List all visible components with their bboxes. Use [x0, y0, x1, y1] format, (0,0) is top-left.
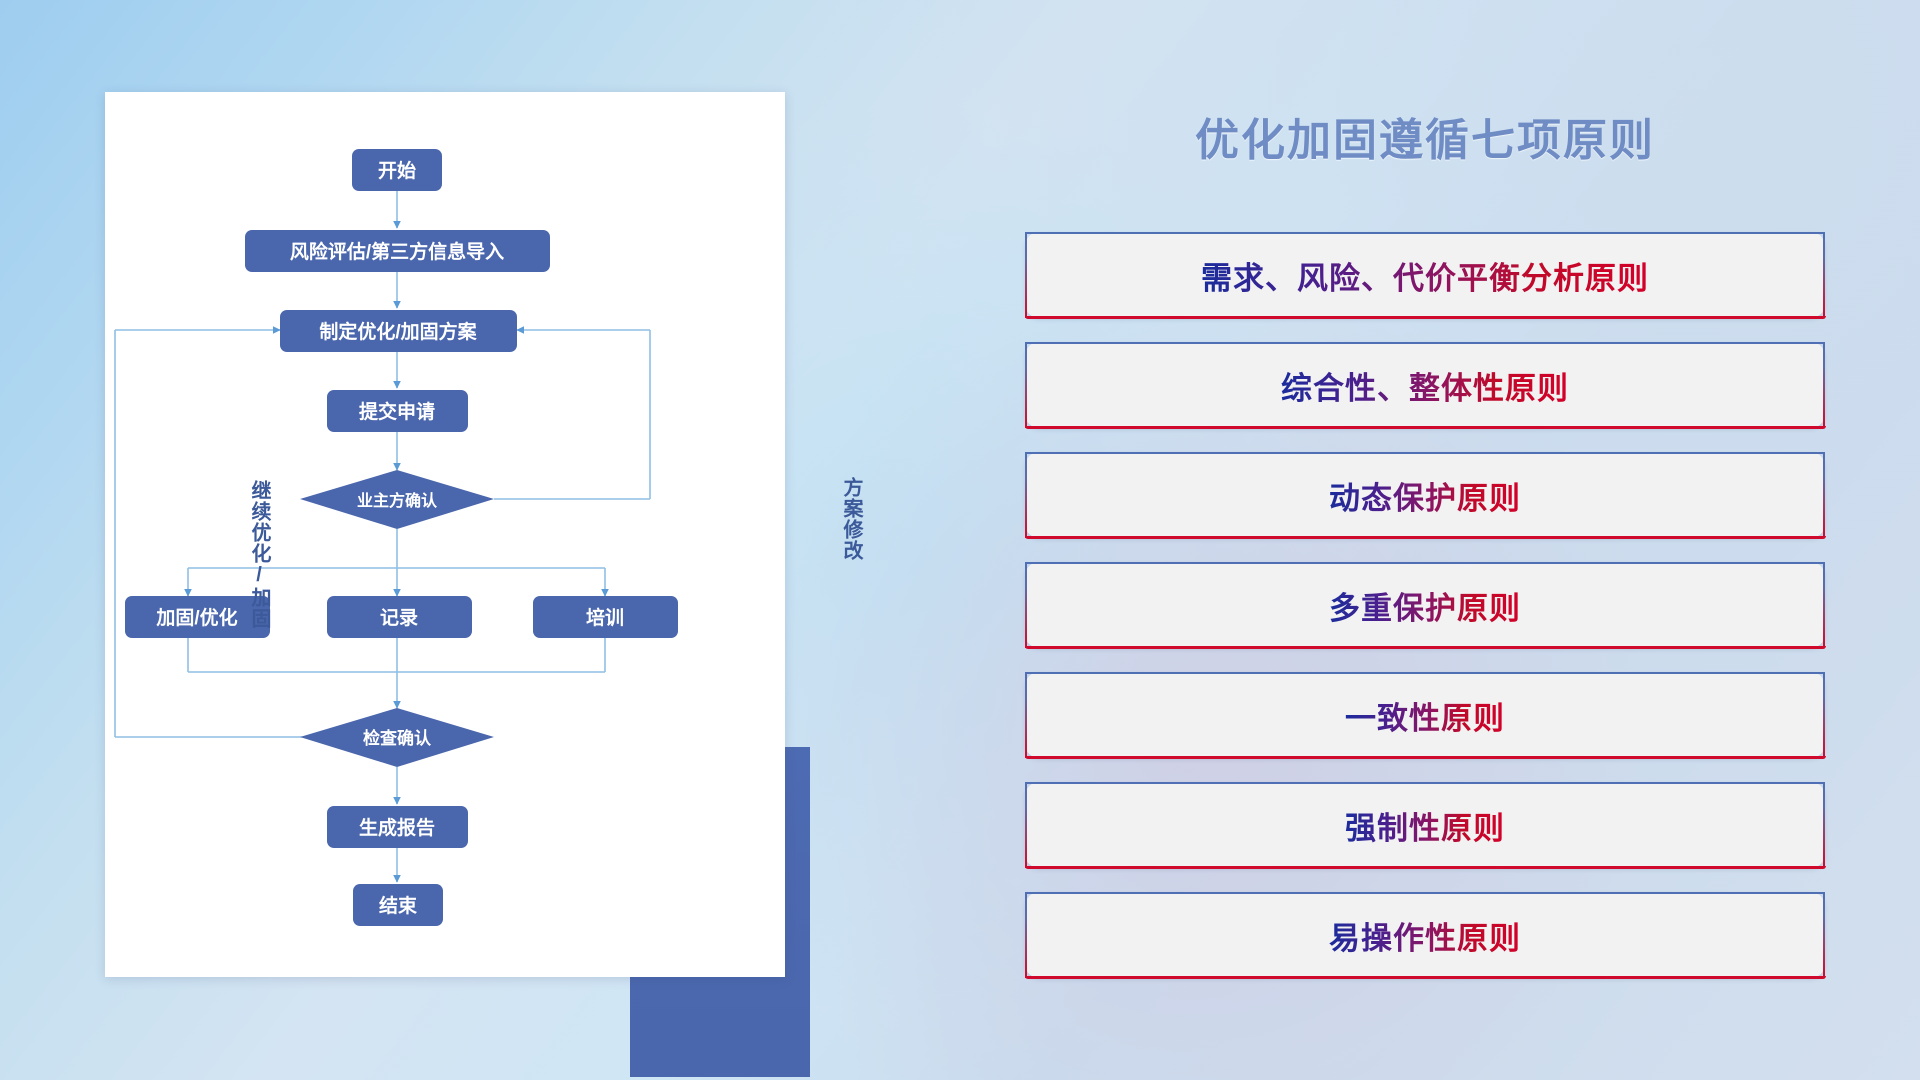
flow-node-report[interactable]: 生成报告 — [327, 806, 468, 848]
principle-card[interactable]: 需求、风险、代价平衡分析原则 — [1025, 232, 1825, 318]
flow-node-owner-confirm[interactable]: 业主方确认 — [300, 470, 494, 529]
flow-node-reinforce-label: 加固/优化 — [155, 606, 237, 629]
flow-node-report-label: 生成报告 — [359, 816, 435, 839]
principle-card-label: 易操作性原则 — [1329, 913, 1521, 958]
flow-node-submit-label: 提交申请 — [359, 400, 435, 423]
flow-node-plan[interactable]: 制定优化/加固方案 — [280, 310, 517, 352]
principle-card-label: 需求、风险、代价平衡分析原则 — [1201, 253, 1649, 298]
principle-card-label: 动态保护原则 — [1329, 473, 1521, 518]
flow-node-record-label: 记录 — [380, 607, 418, 629]
flow-edge-label-left: 继续优化/加固 — [248, 480, 269, 629]
flow-node-owner-confirm-label: 业主方确认 — [357, 491, 438, 510]
principle-card-label: 强制性原则 — [1345, 803, 1505, 848]
principle-card[interactable]: 动态保护原则 — [1025, 452, 1825, 538]
principle-card[interactable]: 易操作性原则 — [1025, 892, 1825, 978]
flow-node-risk-label: 风险评估/第三方信息导入 — [290, 240, 504, 263]
principle-card-label: 一致性原则 — [1345, 693, 1505, 738]
panel-title: 优化加固遵循七项原则 — [1010, 104, 1840, 168]
flow-node-end[interactable]: 结束 — [353, 884, 443, 926]
flow-edge-label-right: 方案修改 — [840, 477, 861, 561]
slide-root: 开始 风险评估/第三方信息导入 制定优化/加固方案 提交申请 业主方确认 加固/ — [0, 0, 1920, 1080]
principle-card-list: 需求、风险、代价平衡分析原则 综合性、整体性原则 动态保护原则 多重保护原则 一… — [1025, 232, 1825, 1002]
flowchart-svg: 开始 风险评估/第三方信息导入 制定优化/加固方案 提交申请 业主方确认 加固/ — [105, 92, 805, 992]
flow-node-training[interactable]: 培训 — [533, 596, 678, 638]
principle-card-label: 多重保护原则 — [1329, 583, 1521, 628]
flow-node-training-label: 培训 — [586, 606, 624, 629]
principle-card[interactable]: 一致性原则 — [1025, 672, 1825, 758]
flow-node-submit[interactable]: 提交申请 — [327, 390, 468, 432]
principle-card[interactable]: 综合性、整体性原则 — [1025, 342, 1825, 428]
flow-node-end-label: 结束 — [379, 894, 418, 917]
principles-panel: 优化加固遵循七项原则 需求、风险、代价平衡分析原则 综合性、整体性原则 动态保护… — [1010, 90, 1840, 1020]
principle-card[interactable]: 强制性原则 — [1025, 782, 1825, 868]
flow-node-start-label: 开始 — [378, 159, 416, 182]
principle-card-label: 综合性、整体性原则 — [1281, 363, 1569, 408]
flowchart-panel: 开始 风险评估/第三方信息导入 制定优化/加固方案 提交申请 业主方确认 加固/ — [105, 92, 805, 992]
flow-node-plan-label: 制定优化/加固方案 — [319, 320, 477, 343]
flow-node-start[interactable]: 开始 — [352, 149, 442, 191]
flow-node-record[interactable]: 记录 — [327, 596, 472, 638]
flow-node-check[interactable]: 检查确认 — [300, 708, 494, 767]
flow-node-risk[interactable]: 风险评估/第三方信息导入 — [245, 230, 550, 272]
principle-card[interactable]: 多重保护原则 — [1025, 562, 1825, 648]
flow-node-check-label: 检查确认 — [363, 728, 432, 748]
